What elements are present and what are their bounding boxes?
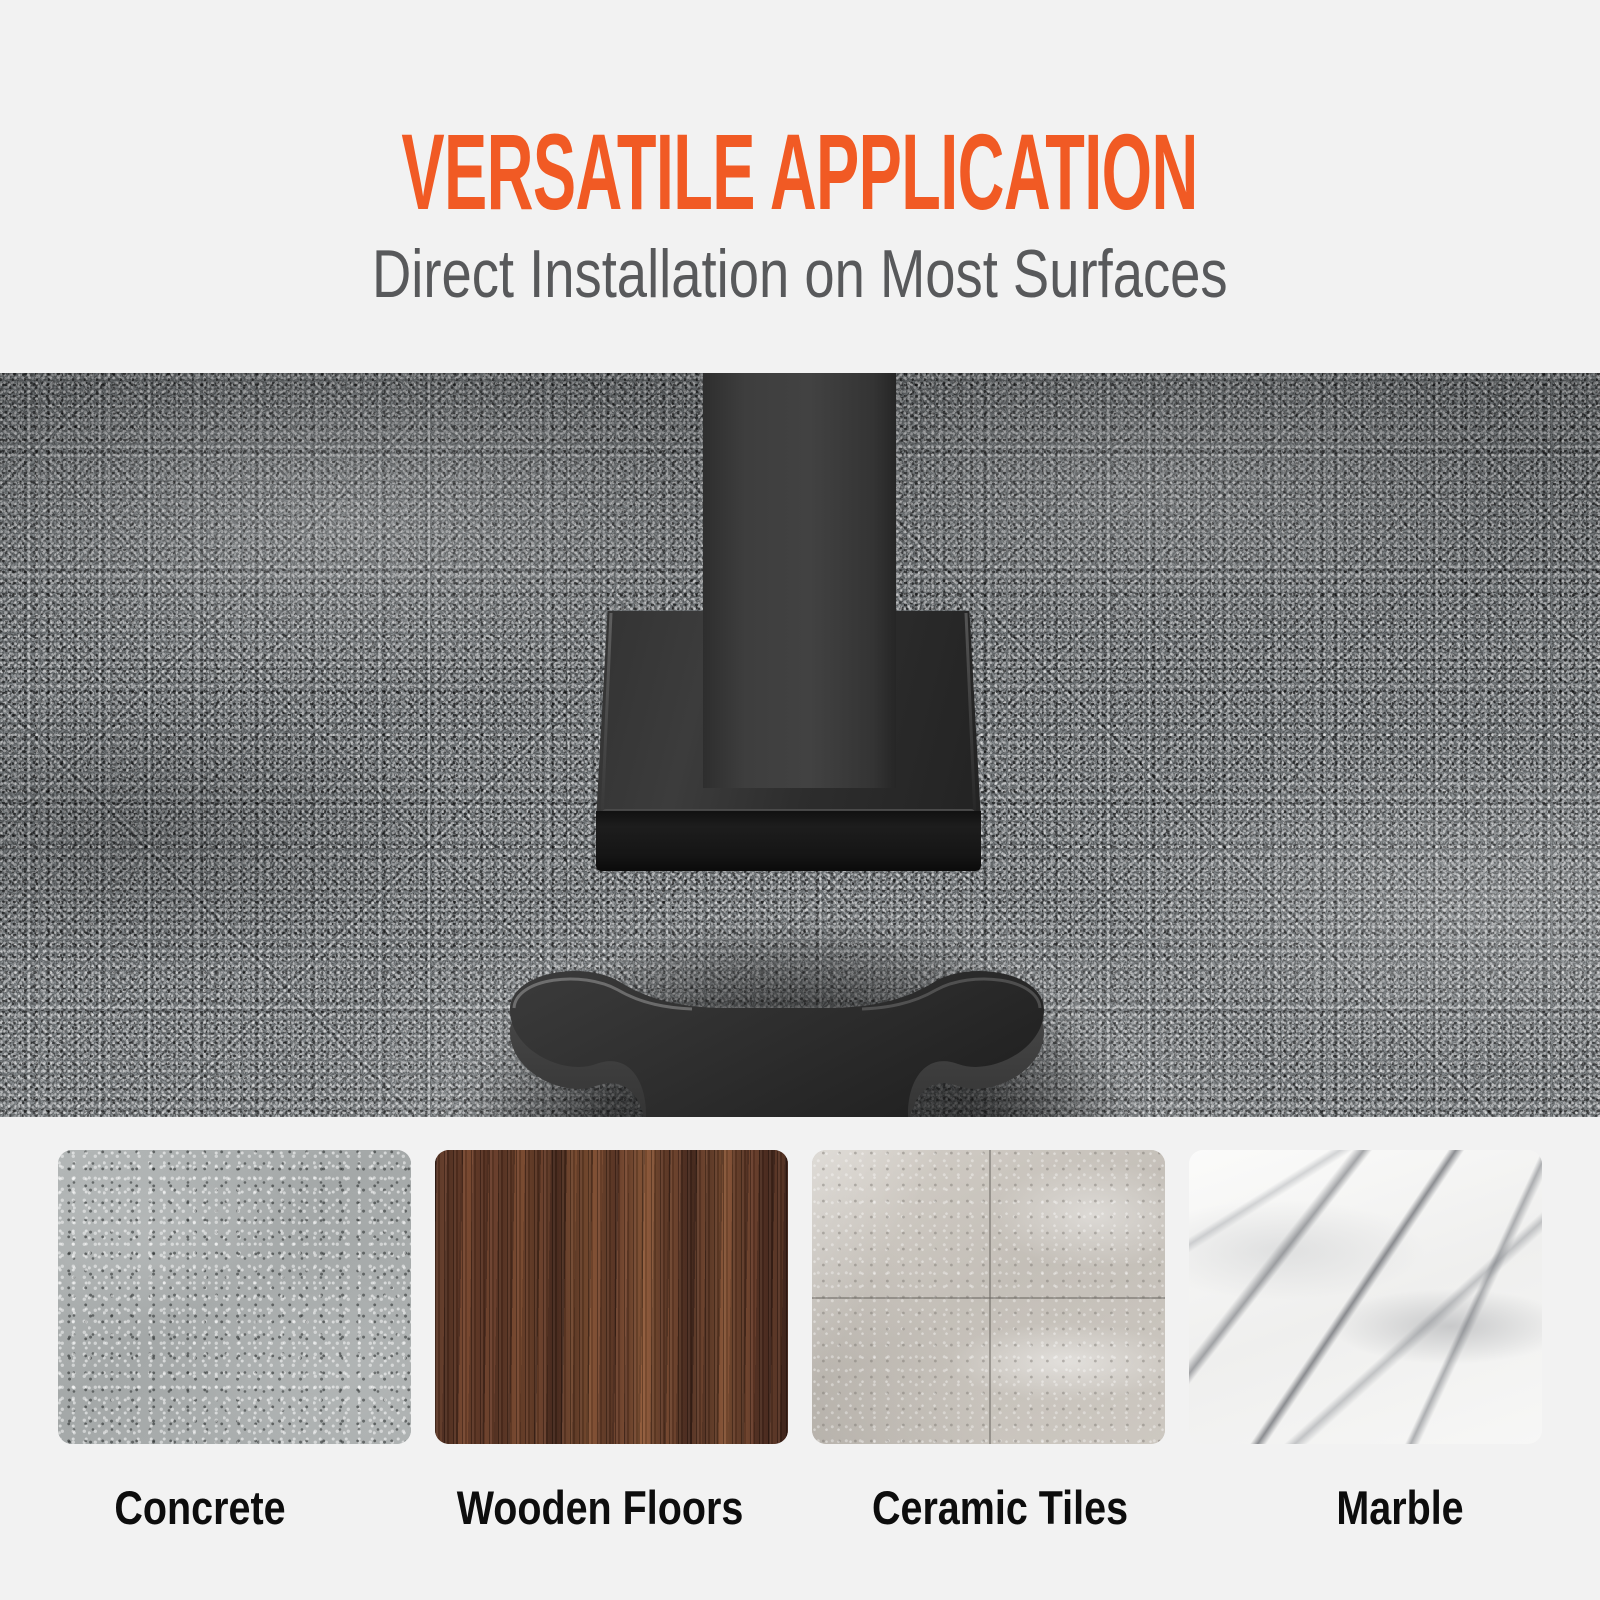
page-title: VERSATILE APPLICATION	[402, 118, 1198, 226]
tile-grout-horizontal	[812, 1297, 1165, 1299]
wood-grain-texture	[435, 1150, 788, 1444]
surface-swatch-row	[0, 1117, 1600, 1444]
surface-label-concrete: Concrete	[32, 1444, 368, 1600]
surface-label-marble: Marble	[1232, 1444, 1568, 1600]
wooden-floors-swatch[interactable]	[435, 1150, 788, 1444]
table-column	[703, 373, 896, 788]
hero-image	[0, 373, 1600, 1117]
header-banner: VERSATILE APPLICATION Direct Installatio…	[0, 0, 1600, 373]
pedestal-front-face	[596, 811, 981, 871]
surface-label-row: Concrete Wooden Floors Ceramic Tiles Mar…	[0, 1444, 1600, 1600]
concrete-texture	[58, 1150, 411, 1444]
concrete-swatch[interactable]	[58, 1150, 411, 1444]
ceramic-tiles-swatch[interactable]	[812, 1150, 1165, 1444]
four-lobed-foot-plate	[492, 968, 1062, 1117]
table-base-illustration	[0, 373, 1600, 1117]
marble-veining-texture	[1189, 1150, 1542, 1444]
marble-swatch[interactable]	[1189, 1150, 1542, 1444]
surface-label-wooden-floors: Wooden Floors	[432, 1444, 768, 1600]
page-subtitle: Direct Installation on Most Surfaces	[372, 240, 1228, 308]
surface-label-ceramic-tiles: Ceramic Tiles	[832, 1444, 1168, 1600]
